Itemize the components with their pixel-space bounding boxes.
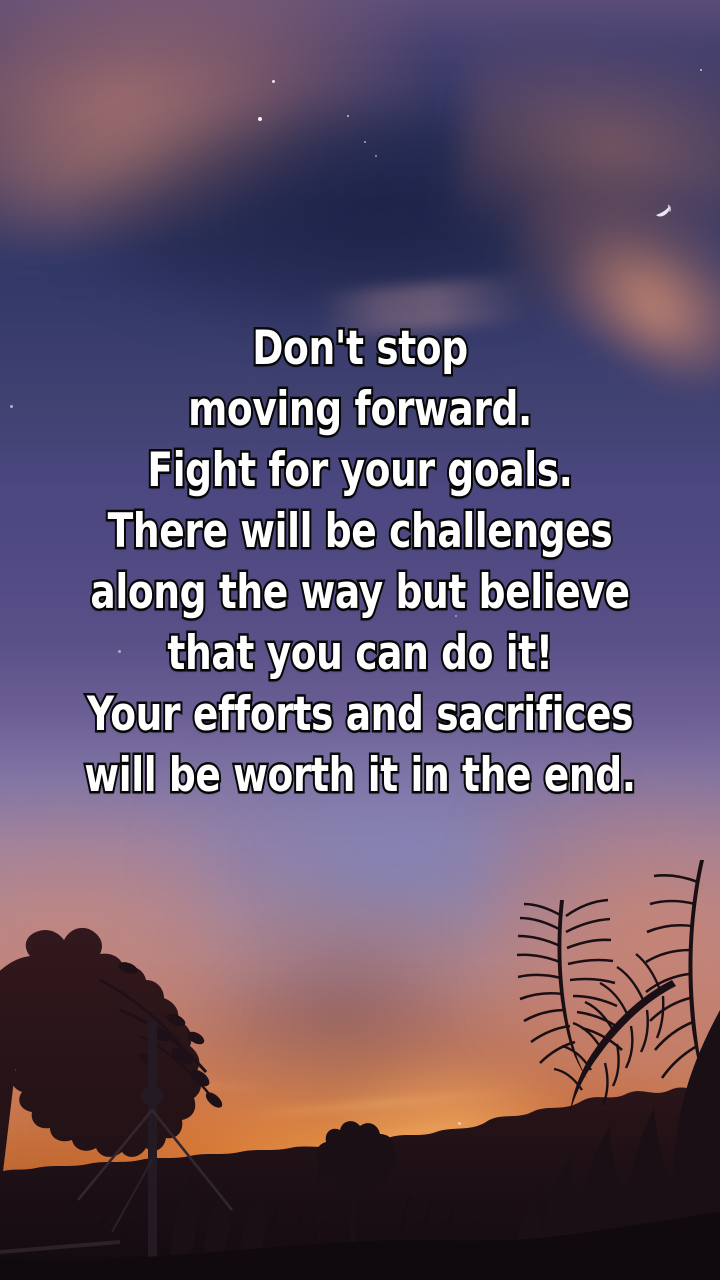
bright-crescent-icon xyxy=(652,200,678,226)
quote-line-7: Your efforts and sacrifices xyxy=(72,684,648,745)
quote-line-3: Fight for your goals. xyxy=(72,440,648,501)
quote-line-2: moving forward. xyxy=(72,379,648,440)
quote-line-1: Don't stop xyxy=(72,318,648,379)
foreground-silhouette-group xyxy=(0,860,720,1280)
quote-text-block: Don't stop moving forward. Fight for you… xyxy=(0,318,720,806)
star xyxy=(272,80,275,83)
quote-line-8: will be worth it in the end. xyxy=(72,745,648,806)
star xyxy=(258,117,262,121)
wallpaper-poster: Don't stop moving forward. Fight for you… xyxy=(0,0,720,1280)
quote-line-4: There will be challenges xyxy=(72,501,648,562)
star xyxy=(347,115,349,117)
quote-line-5: along the way but believe xyxy=(72,562,648,623)
quote-line-6: that you can do it! xyxy=(72,623,648,684)
star xyxy=(375,155,377,157)
star xyxy=(700,69,702,71)
star xyxy=(364,141,366,143)
